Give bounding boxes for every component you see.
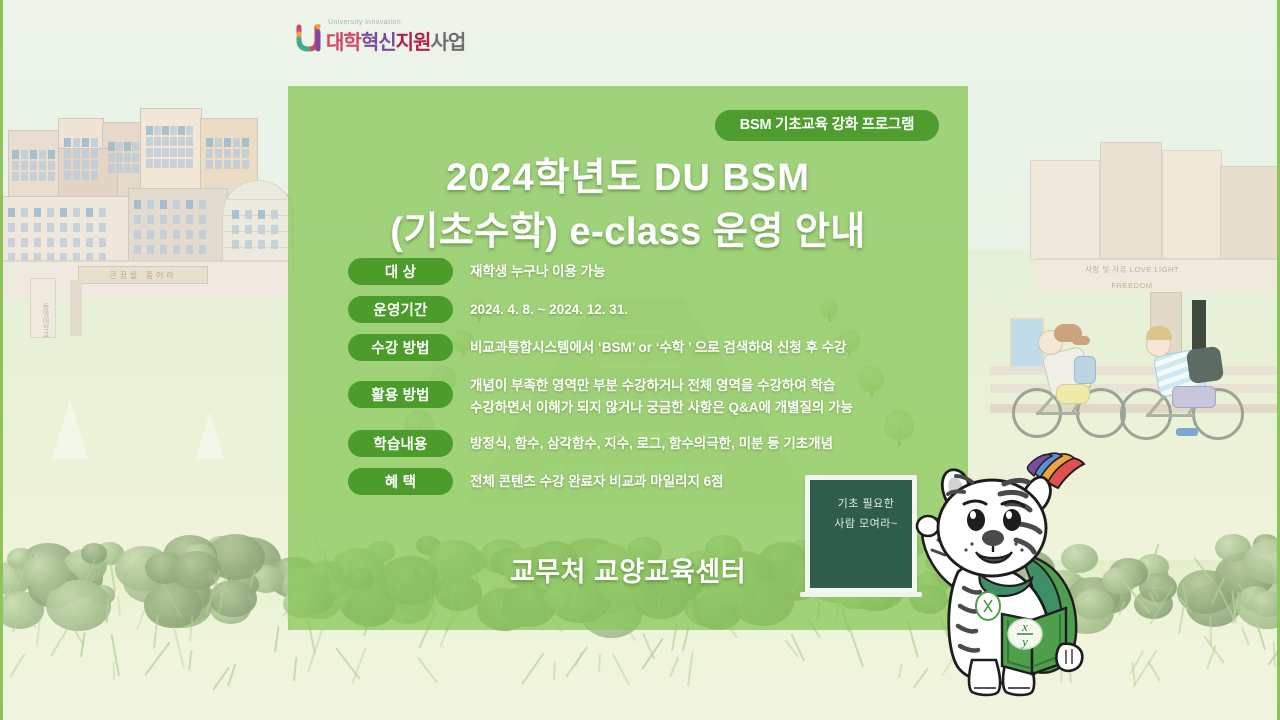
info-row-value: 재학생 누구나 이용 가능 [470, 258, 605, 283]
poster-root: 큰꿈을 품어라 동명대학교 사랑 빛 자유 LOVE LIGHT FREEDOM [0, 0, 1280, 720]
info-row-value: 방정식, 함수, 삼각함수, 지수, 로그, 함수의극한, 미분 등 기초개념 [470, 430, 833, 455]
svg-text:x: x [1021, 619, 1028, 634]
logo-english-text: University innovation [328, 19, 401, 26]
info-row-value-line: 개념이 부족한 영역만 부분 수강하거나 전체 영역을 수강하여 학습 [470, 375, 853, 397]
logo-ko-2: 혁신 [361, 32, 396, 54]
info-row-list: 대 상재학생 누구나 이용 가능운영기간2024. 4. 8. ~ 2024. … [348, 258, 948, 506]
info-row: 활용 방법개념이 부족한 영역만 부분 수강하거나 전체 영역을 수강하여 학습… [348, 372, 948, 419]
info-row-label: 혜 택 [348, 468, 453, 495]
info-row-value-line: 방정식, 함수, 삼각함수, 지수, 로그, 함수의극한, 미분 등 기초개념 [470, 433, 833, 455]
left-pillar-vertical-text: 동명대학교 [38, 300, 50, 340]
program-badge: BSM 기초교육 강화 프로그램 [715, 110, 939, 141]
info-row: 운영기간2024. 4. 8. ~ 2024. 12. 31. [348, 296, 948, 323]
svg-text:y: y [1020, 634, 1028, 649]
info-row-label: 수강 방법 [348, 334, 453, 361]
right-gate-sign: 사랑 빛 자유 LOVE LIGHT FREEDOM [1072, 262, 1192, 278]
logo-ko-3: 지원 [396, 32, 431, 54]
info-row-value: 개념이 부족한 영역만 부분 수강하거나 전체 영역을 수강하여 학습수강하면서… [470, 372, 853, 419]
title-line-2: (기초수학) e-class 운영 안내 [288, 206, 968, 260]
info-row-value-line: 비교과통합시스템에서 ‘BSM’ or ‘수학 ’ 으로 검색하여 신청 후 수… [470, 337, 846, 359]
left-gate-sign: 큰꿈을 품어라 [78, 266, 208, 284]
logo-u-mark-icon [296, 24, 326, 52]
info-row-value-line: 재학생 누구나 이용 가능 [470, 261, 605, 283]
info-row-value: 비교과통합시스템에서 ‘BSM’ or ‘수학 ’ 으로 검색하여 신청 후 수… [470, 334, 846, 359]
info-row-value-line: 전체 콘텐츠 수강 완료자 비교과 마일리지 6점 [470, 471, 724, 493]
logo-ko-4: 사업 [430, 32, 465, 54]
program-logo: University innovation 대학혁신지원사업 [296, 18, 461, 54]
info-row: 수강 방법비교과통합시스템에서 ‘BSM’ or ‘수학 ’ 으로 검색하여 신… [348, 334, 948, 361]
info-row-label: 학습내용 [348, 430, 453, 457]
left-gate-pillar-secondary [70, 280, 82, 336]
blossom-tree-left-2 [196, 412, 224, 458]
info-row-value: 2024. 4. 8. ~ 2024. 12. 31. [470, 296, 628, 321]
info-row-value: 전체 콘텐츠 수강 완료자 비교과 마일리지 6점 [470, 468, 724, 493]
info-row-value-line: 2024. 4. 8. ~ 2024. 12. 31. [470, 299, 628, 321]
blossom-tree-left [52, 400, 88, 458]
info-row-label: 운영기간 [348, 296, 453, 323]
title-line-1: 2024학년도 DU BSM [288, 152, 968, 206]
left-border-accent [0, 0, 3, 720]
cyclist-male [1118, 300, 1258, 440]
logo-ko-1: 대학 [326, 32, 361, 54]
info-row-label: 활용 방법 [348, 381, 453, 408]
info-row-value-line: 수강하면서 이해가 되지 않거나 궁금한 사항은 Q&A에 개별질의 가능 [470, 397, 853, 419]
info-row: 대 상재학생 누구나 이용 가능 [348, 258, 948, 285]
logo-korean-text: 대학혁신지원사업 [326, 26, 465, 55]
info-row-label: 대 상 [348, 258, 453, 285]
info-row: 학습내용방정식, 함수, 삼각함수, 지수, 로그, 함수의극한, 미분 등 기… [348, 430, 948, 457]
white-tiger-mascot: x y [880, 448, 1130, 698]
page-title: 2024학년도 DU BSM (기초수학) e-class 운영 안내 [288, 152, 968, 260]
